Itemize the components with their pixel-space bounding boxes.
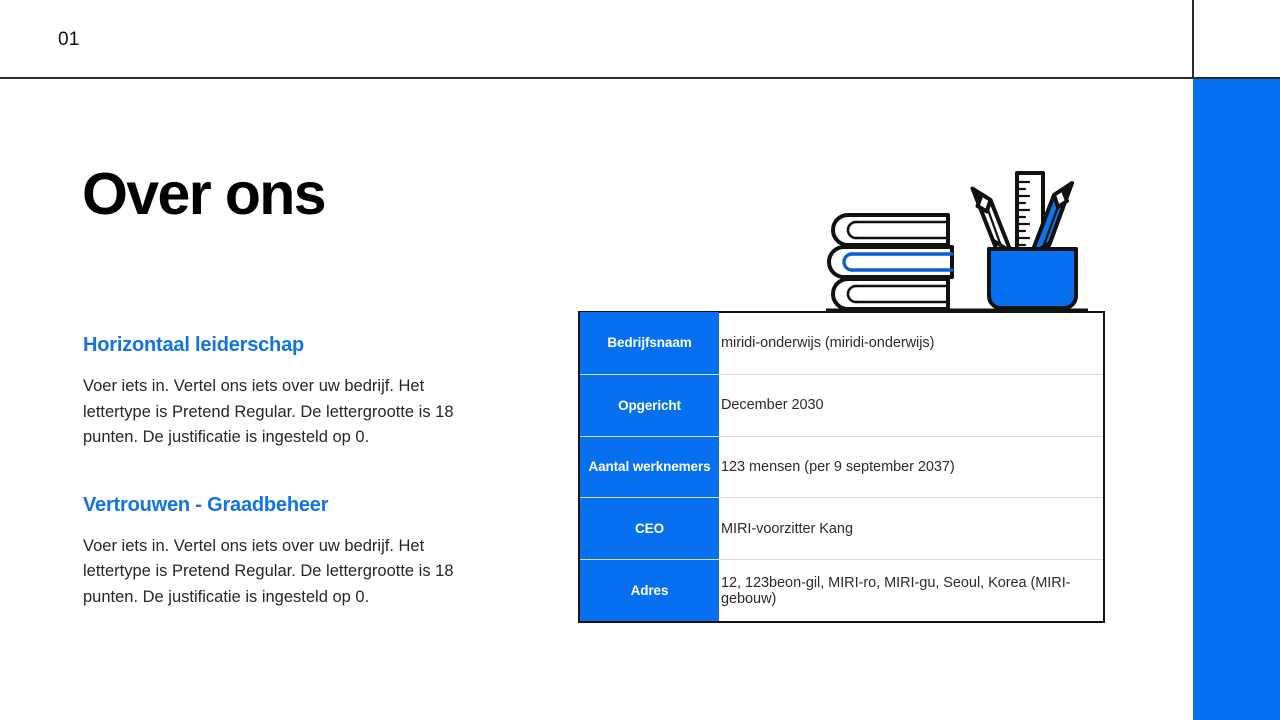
table-row: Opgericht December 2030 xyxy=(580,374,1103,436)
table-row-value: MIRI-voorzitter Kang xyxy=(719,498,1103,559)
header-vertical-rule xyxy=(1192,0,1194,78)
company-info-table: Bedrijfsnaam miridi-onderwijs (miridi-on… xyxy=(578,311,1105,623)
table-row-label: Aantal werknemers xyxy=(580,437,719,498)
table-row: Bedrijfsnaam miridi-onderwijs (miridi-on… xyxy=(580,313,1103,374)
section-body: Voer iets in. Vertel ons iets over uw be… xyxy=(83,374,495,451)
table-row-value: December 2030 xyxy=(719,375,1103,436)
slide-number: 01 xyxy=(58,28,80,52)
pencil-cup xyxy=(989,249,1076,308)
table-row: CEO MIRI-voorzitter Kang xyxy=(580,497,1103,559)
book-top xyxy=(833,215,948,245)
table-row-label: Bedrijfsnaam xyxy=(580,312,719,374)
page-title: Over ons xyxy=(82,158,325,230)
section-horizontaal-leiderschap: Horizontaal leiderschap Voer iets in. Ve… xyxy=(83,332,503,451)
right-accent-bar xyxy=(1193,79,1280,720)
section-body: Voer iets in. Vertel ons iets over uw be… xyxy=(83,534,495,611)
table-row: Aantal werknemers 123 mensen (per 9 sept… xyxy=(580,436,1103,498)
table-row-value: miridi-onderwijs (miridi-onderwijs) xyxy=(719,313,1103,374)
slide-canvas: 01 Over ons Horizontaal leiderschap Voer… xyxy=(0,0,1280,720)
section-heading: Horizontaal leiderschap xyxy=(83,332,503,358)
books-and-pencil-cup-illustration xyxy=(826,163,1088,313)
book-bottom xyxy=(833,279,948,309)
table-row-label: CEO xyxy=(580,498,719,559)
header-horizontal-rule xyxy=(0,77,1280,79)
text-column: Horizontaal leiderschap Voer iets in. Ve… xyxy=(83,332,503,611)
table-row-label: Opgericht xyxy=(580,375,719,436)
table-row-label: Adres xyxy=(580,560,719,621)
table-row-value: 12, 123beon-gil, MIRI-ro, MIRI-gu, Seoul… xyxy=(719,560,1103,621)
table-row: Adres 12, 123beon-gil, MIRI-ro, MIRI-gu,… xyxy=(580,559,1103,621)
section-heading: Vertrouwen - Graadbeheer xyxy=(83,492,503,518)
table-row-value: 123 mensen (per 9 september 2037) xyxy=(719,437,1103,498)
section-vertrouwen-graadbeheer: Vertrouwen - Graadbeheer Voer iets in. V… xyxy=(83,492,503,611)
book-middle xyxy=(829,247,952,277)
